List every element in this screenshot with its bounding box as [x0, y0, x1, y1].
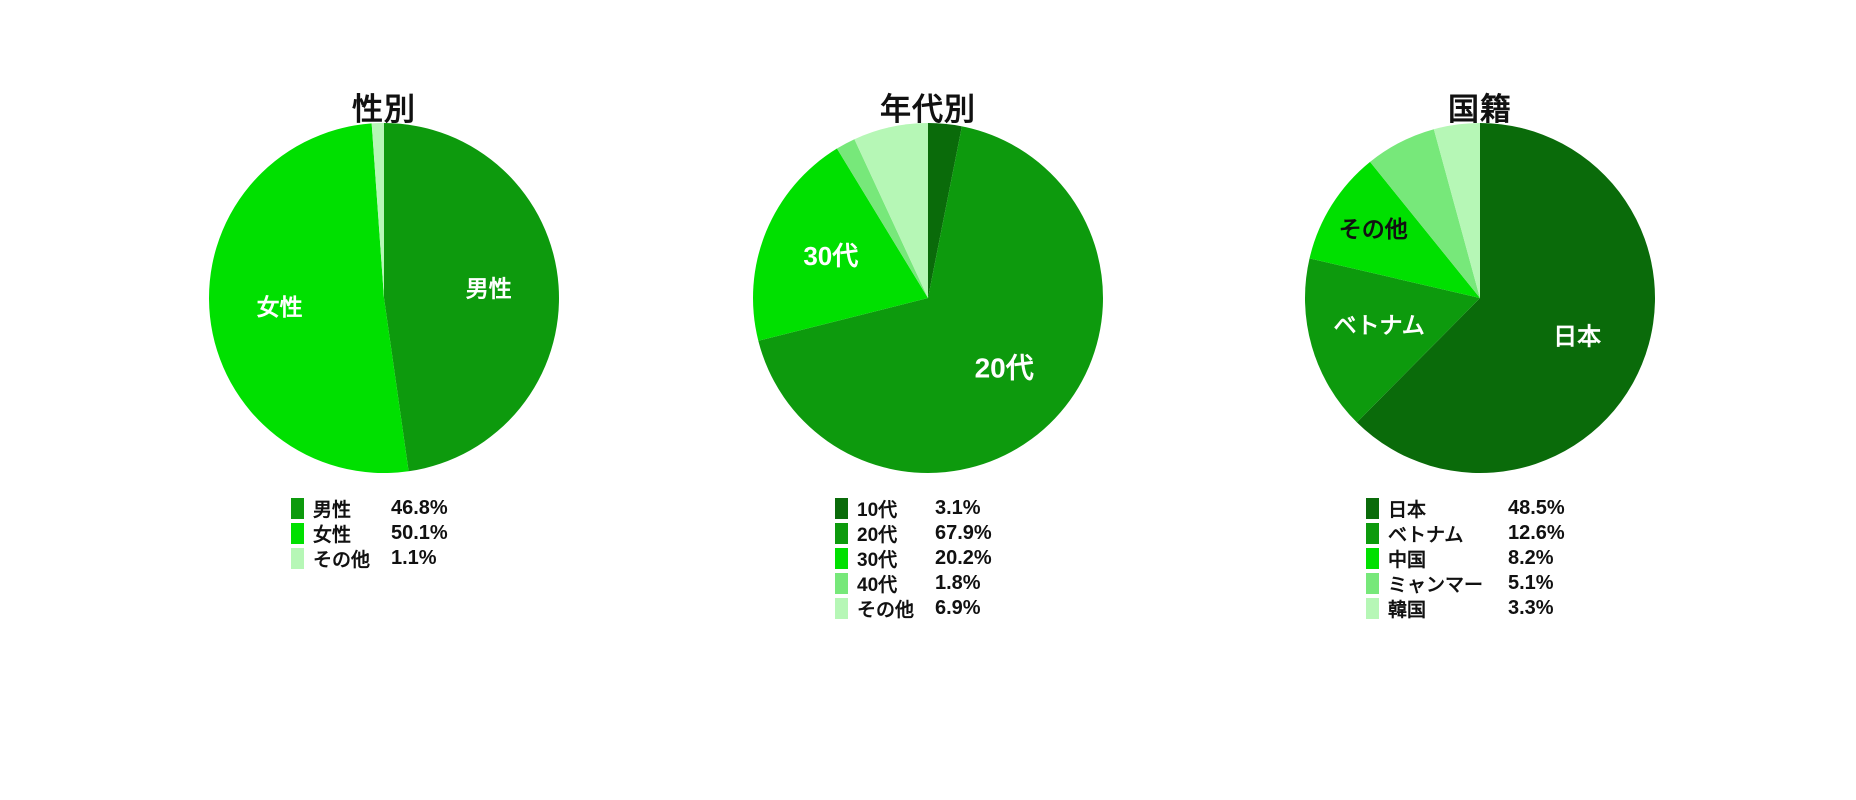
- legend-value: 3.3%: [1508, 597, 1594, 620]
- legend-item[interactable]: 男性46.8%: [291, 496, 477, 521]
- legend-swatch-icon: [1366, 548, 1379, 569]
- pie-slice-label-女性: 女性: [257, 294, 303, 320]
- legend-label: その他: [857, 595, 935, 622]
- chart-panel-age: 年代別 20代30代 10代3.1%20代67.9%30代20.2%40代1.8…: [648, 0, 1208, 800]
- legend-item[interactable]: 女性50.1%: [291, 521, 477, 546]
- legend-value: 5.1%: [1508, 572, 1594, 595]
- legend-item[interactable]: 10代3.1%: [835, 496, 1021, 521]
- legend-nationality: 日本48.5%ベトナム12.6%中国8.2%ミャンマー5.1%韓国3.3%: [1200, 496, 1760, 621]
- legend-value: 50.1%: [391, 522, 477, 545]
- legend-age: 10代3.1%20代67.9%30代20.2%40代1.8%その他6.9%: [648, 496, 1208, 621]
- pie-slice-label-日本: 日本: [1553, 323, 1601, 350]
- pie-chart-nationality: 日本ベトナムその他: [1200, 118, 1760, 478]
- legend-label: 中国: [1388, 545, 1508, 572]
- legend-label: 40代: [857, 570, 935, 597]
- legend-value: 67.9%: [935, 522, 1021, 545]
- legend-value: 8.2%: [1508, 547, 1594, 570]
- legend-swatch-icon: [291, 548, 304, 569]
- legend-value: 1.8%: [935, 572, 1021, 595]
- chart-panel-nationality: 国籍 日本ベトナムその他 日本48.5%ベトナム12.6%中国8.2%ミャンマー…: [1200, 0, 1760, 800]
- legend-item[interactable]: ベトナム12.6%: [1366, 521, 1594, 546]
- legend-label: 女性: [313, 520, 391, 547]
- legend-swatch-icon: [835, 498, 848, 519]
- legend-swatch-icon: [291, 523, 304, 544]
- legend-item[interactable]: 20代67.9%: [835, 521, 1021, 546]
- pie-slice-label-ベトナム: ベトナム: [1333, 312, 1424, 338]
- legend-item[interactable]: 中国8.2%: [1366, 546, 1594, 571]
- chart-panel-gender: 性別 男性女性 男性46.8%女性50.1%その他1.1%: [104, 0, 664, 800]
- pie-chart-gender: 男性女性: [104, 118, 664, 478]
- pie-slice-label-中国: その他: [1339, 216, 1408, 242]
- legend-swatch-icon: [835, 573, 848, 594]
- legend-label: ミャンマー: [1388, 570, 1508, 597]
- legend-label: 30代: [857, 545, 935, 572]
- pie-slice-label-30代: 30代: [803, 241, 858, 271]
- legend-value: 48.5%: [1508, 497, 1594, 520]
- legend-item[interactable]: ミャンマー5.1%: [1366, 571, 1594, 596]
- legend-value: 6.9%: [935, 597, 1021, 620]
- legend-item[interactable]: 日本48.5%: [1366, 496, 1594, 521]
- legend-item[interactable]: 30代20.2%: [835, 546, 1021, 571]
- legend-value: 46.8%: [391, 497, 477, 520]
- legend-label: 10代: [857, 495, 935, 522]
- pie-svg-age: 20代30代: [648, 118, 1208, 478]
- legend-swatch-icon: [835, 523, 848, 544]
- pie-slice-label-男性: 男性: [466, 276, 512, 302]
- legend-swatch-icon: [1366, 523, 1379, 544]
- legend-swatch-icon: [835, 548, 848, 569]
- legend-label: 韓国: [1388, 595, 1508, 622]
- legend-swatch-icon: [835, 598, 848, 619]
- legend-item[interactable]: その他1.1%: [291, 546, 477, 571]
- legend-value: 12.6%: [1508, 522, 1594, 545]
- legend-gender: 男性46.8%女性50.1%その他1.1%: [104, 496, 664, 571]
- legend-item[interactable]: 40代1.8%: [835, 571, 1021, 596]
- legend-value: 3.1%: [935, 497, 1021, 520]
- legend-label: その他: [313, 545, 391, 572]
- legend-value: 20.2%: [935, 547, 1021, 570]
- legend-swatch-icon: [1366, 598, 1379, 619]
- legend-swatch-icon: [291, 498, 304, 519]
- legend-label: 日本: [1388, 495, 1508, 522]
- legend-swatch-icon: [1366, 498, 1379, 519]
- pie-slice-label-20代: 20代: [975, 353, 1034, 384]
- legend-label: ベトナム: [1388, 520, 1508, 547]
- legend-label: 男性: [313, 495, 391, 522]
- legend-item[interactable]: その他6.9%: [835, 596, 1021, 621]
- legend-label: 20代: [857, 520, 935, 547]
- legend-item[interactable]: 韓国3.3%: [1366, 596, 1594, 621]
- pie-svg-nationality: 日本ベトナムその他: [1200, 118, 1760, 478]
- legend-value: 1.1%: [391, 547, 477, 570]
- legend-swatch-icon: [1366, 573, 1379, 594]
- pie-svg-gender: 男性女性: [104, 118, 664, 478]
- pie-chart-age: 20代30代: [648, 118, 1208, 478]
- charts-board: 性別 男性女性 男性46.8%女性50.1%その他1.1% 年代別 20代30代…: [0, 0, 1856, 800]
